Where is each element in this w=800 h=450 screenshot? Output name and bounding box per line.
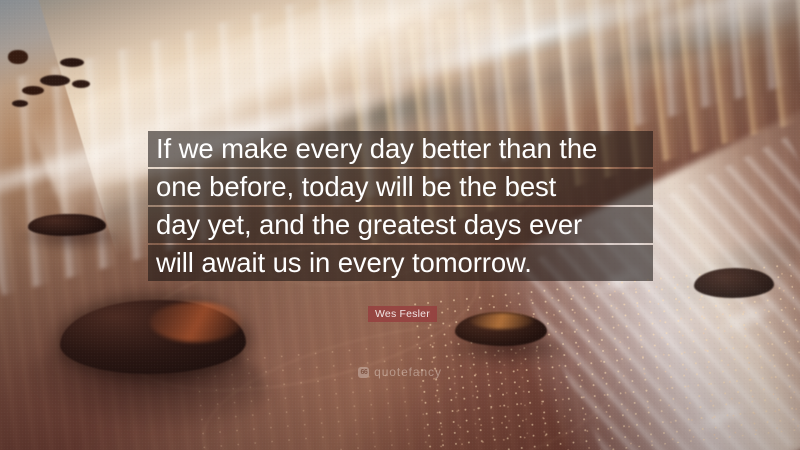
quote-line-4: will await us in every tomorrow. xyxy=(148,245,653,281)
quote-author: Wes Fesler xyxy=(368,306,437,322)
wallpaper-canvas: If we make every day better than the one… xyxy=(0,0,800,450)
quote-line-3: day yet, and the greatest days ever xyxy=(148,207,653,243)
watermark-brand: quotefancy xyxy=(374,366,442,378)
quote-line-2: one before, today will be the best xyxy=(148,169,653,205)
watermark: 66 quotefancy xyxy=(0,366,800,378)
quote-text-block: If we make every day better than the one… xyxy=(148,131,653,281)
quote-line-1: If we make every day better than the xyxy=(148,131,653,167)
quote-mark-icon: 66 xyxy=(358,367,369,378)
